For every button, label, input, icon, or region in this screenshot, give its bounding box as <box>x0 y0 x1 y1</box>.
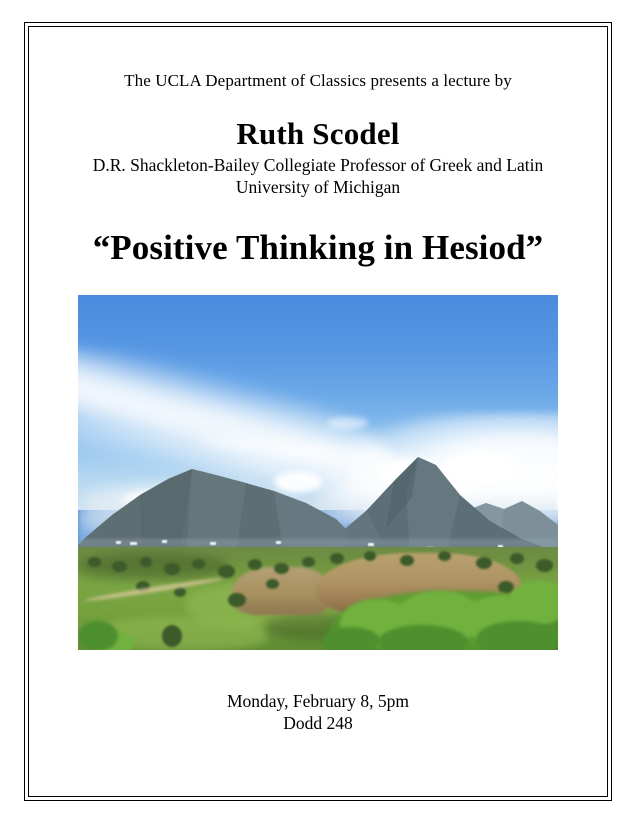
foreground-tree <box>162 625 182 647</box>
foreground-shrub <box>508 581 558 625</box>
olive-tree <box>140 557 152 567</box>
photograph-container <box>38 295 598 650</box>
foreground-shrub <box>476 621 558 650</box>
olive-tree <box>400 555 414 566</box>
olive-tree <box>218 565 235 578</box>
olive-tree <box>438 551 451 561</box>
olive-tree <box>476 557 492 569</box>
pasture-shadow <box>78 553 228 579</box>
village-building <box>210 542 216 545</box>
olive-tree <box>228 593 246 607</box>
event-datetime: Monday, February 8, 5pm <box>38 690 598 712</box>
olive-tree <box>266 579 279 589</box>
event-details: Monday, February 8, 5pm Dodd 248 <box>38 690 598 735</box>
olive-tree <box>364 551 376 561</box>
olive-tree <box>164 563 180 575</box>
mountain-peak-right <box>314 437 558 555</box>
landscape-photograph <box>78 295 558 650</box>
village-building <box>276 541 281 544</box>
cloud-puff <box>328 417 368 429</box>
poster-content: The UCLA Department of Classics presents… <box>38 26 598 797</box>
village-building <box>368 543 374 546</box>
event-location: Dodd 248 <box>38 712 598 734</box>
village-building <box>130 542 137 545</box>
olive-tree <box>192 559 205 569</box>
olive-tree <box>274 563 289 574</box>
olive-tree <box>88 557 101 567</box>
speaker-name: Ruth Scodel <box>38 118 598 151</box>
foreground-shrub <box>322 627 380 650</box>
presenter-intro-line: The UCLA Department of Classics presents… <box>38 70 598 91</box>
lecture-title: “Positive Thinking in Hesiod” <box>38 228 598 267</box>
foreground-shrub <box>78 621 118 650</box>
affiliation-institution: University of Michigan <box>38 177 598 199</box>
affiliation-title: D.R. Shackleton-Bailey Collegiate Profes… <box>38 155 598 177</box>
village-building <box>162 540 167 543</box>
olive-tree <box>112 561 127 572</box>
olive-tree <box>510 553 524 564</box>
olive-tree <box>248 559 262 570</box>
speaker-affiliation: D.R. Shackleton-Bailey Collegiate Profes… <box>38 155 598 199</box>
olive-tree <box>536 559 553 572</box>
olive-tree <box>302 557 315 567</box>
village-building <box>116 541 121 544</box>
olive-tree <box>330 553 344 564</box>
